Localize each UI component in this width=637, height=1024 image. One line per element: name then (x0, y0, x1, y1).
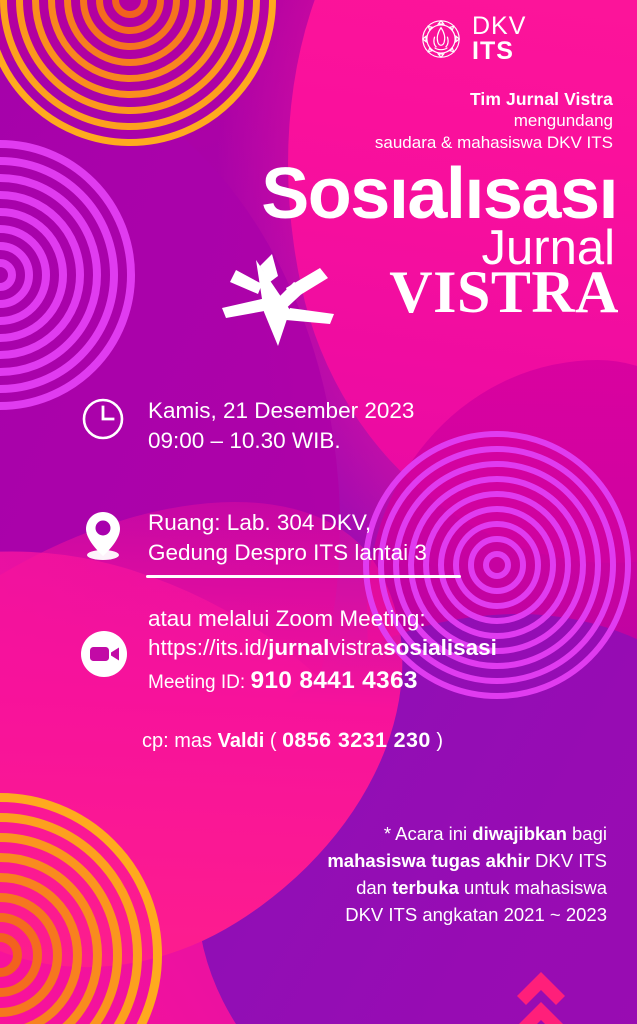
contact-phone: 0856 3231 230 (282, 728, 431, 752)
poster-canvas: DKV ITS Tim Jurnal Vistra mengundang sau… (0, 0, 637, 1024)
its-gear-logo-icon (418, 14, 464, 64)
invitation-line-1: Tim Jurnal Vistra (0, 88, 613, 110)
footer-note-line-1: * Acara ini diwajibkan bagi (0, 820, 607, 847)
zoom-url-bold2: sosialisasi (383, 635, 497, 660)
logo-text-its: ITS (472, 39, 526, 64)
zoom-url-prefix: https://its.id/ (148, 635, 268, 660)
note-l3b: terbuka (392, 877, 459, 898)
note-l1a: * Acara ini (384, 823, 472, 844)
map-pin-icon (80, 508, 126, 560)
zoom-meeting-block: atau melalui Zoom Meeting: https://its.i… (80, 604, 497, 698)
zoom-meeting-id-row: Meeting ID: 910 8441 4363 (148, 664, 497, 698)
zoom-url-bold1: jurnal (268, 635, 329, 660)
footer-note-line-2: mahasiswa tugas akhir DKV ITS (0, 847, 607, 874)
clock-icon (80, 396, 126, 442)
note-l3a: dan (356, 877, 392, 898)
contact-paren-open: ( (270, 730, 277, 752)
zoom-url[interactable]: https://its.id/jurnalvistrasosialisasi (148, 633, 497, 663)
logo-text-dkv: DKV (472, 14, 526, 39)
detail-place-line-1: Ruang: Lab. 304 DKV, (148, 508, 427, 538)
footer-note-line-3: dan terbuka untuk mahasiswa (0, 874, 607, 901)
dkv-its-logo: DKV ITS (418, 14, 526, 64)
note-l1c: bagi (567, 823, 607, 844)
title-brand-vistra: VISTRA (389, 262, 619, 322)
footer-note: * Acara ini diwajibkan bagi mahasiswa tu… (0, 820, 607, 928)
invitation-line-2: mengundang (0, 110, 613, 132)
zoom-meeting-id-label: Meeting ID: (148, 672, 245, 693)
zoom-camera-icon-wrap (80, 630, 128, 683)
note-l3c: untuk mahasiswa (459, 877, 607, 898)
footer-note-line-4: DKV ITS angkatan 2021 ~ 2023 (0, 901, 607, 928)
detail-row-place: Ruang: Lab. 304 DKV, Gedung Despro ITS l… (80, 508, 578, 568)
detail-place-line-2: Gedung Despro ITS lantai 3 (148, 538, 427, 568)
zoom-url-mid: vistra (329, 635, 383, 660)
section-divider (146, 575, 461, 578)
clock-icon-wrap (80, 396, 126, 442)
zoom-camera-icon (80, 630, 128, 678)
note-l2a: mahasiswa tugas akhir (327, 850, 530, 871)
invitation-block: Tim Jurnal Vistra mengundang saudara & m… (0, 88, 613, 154)
map-pin-icon-wrap (80, 508, 126, 554)
zoom-meeting-id-value: 910 8441 4363 (250, 667, 417, 694)
event-details: Kamis, 21 Desember 2023 09:00 – 10.30 WI… (78, 396, 578, 568)
contact-paren-close: ) (436, 730, 443, 752)
vistra-star-logo-icon (216, 252, 344, 348)
note-l1b: diwajibkan (472, 823, 567, 844)
detail-time-line-1: Kamis, 21 Desember 2023 (148, 396, 414, 426)
note-l2b: DKV ITS (530, 850, 607, 871)
contact-name: Valdi (218, 730, 265, 752)
zoom-intro-text: atau melalui Zoom Meeting: (148, 604, 497, 633)
contact-line: cp: mas Valdi ( 0856 3231 230 ) (142, 728, 443, 753)
double-chevron-up-icon (511, 960, 571, 1024)
page-title: Sosıalısası (261, 158, 617, 230)
detail-time-line-2: 09:00 – 10.30 WIB. (148, 426, 414, 456)
contact-prefix: cp: mas (142, 730, 218, 752)
detail-row-time: Kamis, 21 Desember 2023 09:00 – 10.30 WI… (80, 396, 578, 456)
invitation-line-3: saudara & mahasiswa DKV ITS (0, 132, 613, 154)
